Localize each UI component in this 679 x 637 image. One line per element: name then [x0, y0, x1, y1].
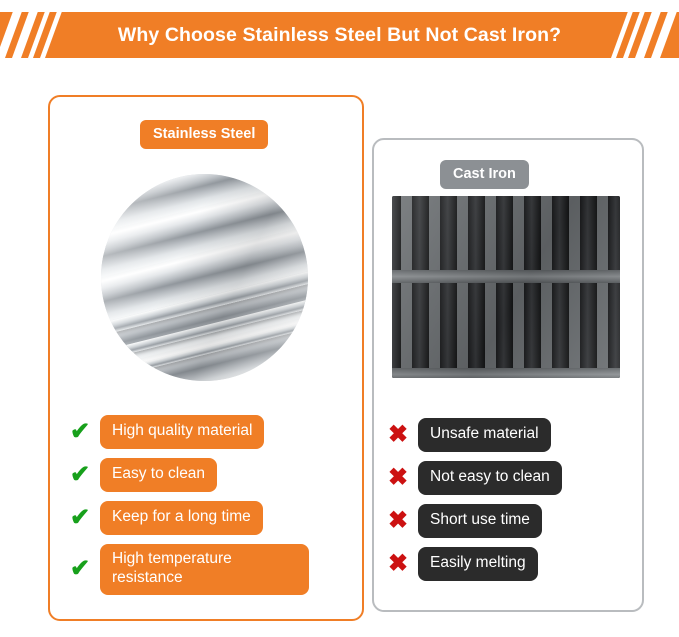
stainless-steel-photo — [101, 174, 308, 381]
cross-icon: ✖ — [388, 466, 418, 490]
list-item: ✔ High temperature resistance — [70, 544, 345, 595]
banner-right-stripes — [619, 12, 675, 58]
list-item: ✔ High quality material — [70, 415, 345, 449]
feature-label: Unsafe material — [418, 418, 551, 452]
cast-iron-label: Cast Iron — [440, 160, 529, 189]
list-item: ✔ Easy to clean — [70, 458, 345, 492]
cast-iron-photo — [392, 196, 620, 378]
cross-icon: ✖ — [388, 509, 418, 533]
list-item: ✖ Unsafe material — [388, 418, 628, 452]
feature-label: Short use time — [418, 504, 542, 538]
stainless-steel-label: Stainless Steel — [140, 120, 268, 149]
stainless-steel-feature-list: ✔ High quality material ✔ Easy to clean … — [70, 415, 345, 604]
feature-label: Easily melting — [418, 547, 538, 581]
check-icon: ✔ — [70, 506, 100, 530]
feature-label: Not easy to clean — [418, 461, 562, 495]
header-banner: Why Choose Stainless Steel But Not Cast … — [0, 12, 679, 58]
list-item: ✖ Easily melting — [388, 547, 628, 581]
feature-label: Keep for a long time — [100, 501, 263, 535]
comparison-infographic: Why Choose Stainless Steel But Not Cast … — [0, 0, 679, 637]
check-icon: ✔ — [70, 420, 100, 444]
cross-icon: ✖ — [388, 423, 418, 447]
list-item: ✖ Not easy to clean — [388, 461, 628, 495]
cast-iron-feature-list: ✖ Unsafe material ✖ Not easy to clean ✖ … — [388, 418, 628, 590]
list-item: ✔ Keep for a long time — [70, 501, 345, 535]
banner-left-stripes — [4, 12, 60, 58]
feature-label: High quality material — [100, 415, 264, 449]
list-item: ✖ Short use time — [388, 504, 628, 538]
check-icon: ✔ — [70, 557, 100, 581]
cross-icon: ✖ — [388, 552, 418, 576]
cast-iron-shading — [392, 196, 620, 378]
stainless-steel-gloss — [101, 174, 308, 381]
page-title: Why Choose Stainless Steel But Not Cast … — [118, 24, 561, 47]
feature-label: High temperature resistance — [100, 544, 309, 595]
feature-label: Easy to clean — [100, 458, 217, 492]
check-icon: ✔ — [70, 463, 100, 487]
